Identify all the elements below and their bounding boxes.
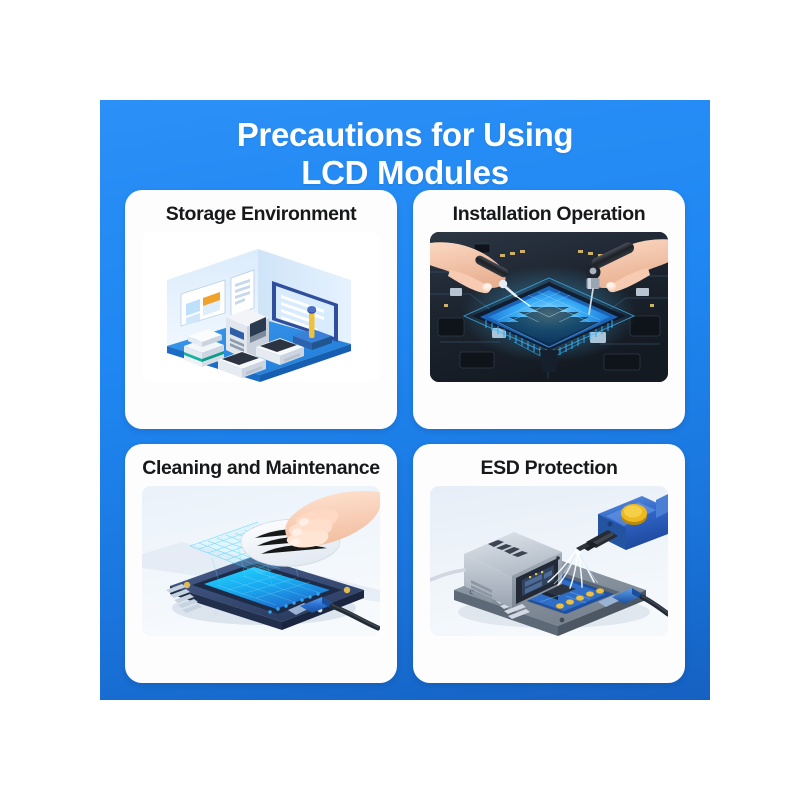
card-title-cleaning-and-maintenance: Cleaning and Maintenance [142,457,380,480]
blue-panel: Precautions for Using LCD Modules Storag… [100,100,710,700]
card-title-esd-protection: ESD Protection [480,457,617,480]
card-media-installation-operation [430,232,668,382]
hand-wiping-display-icon [142,486,380,636]
card-cleaning-and-maintenance[interactable]: Cleaning and Maintenance [125,444,397,683]
card-grid: Storage Environment [125,190,685,683]
title-line-1: Precautions for Using [237,116,574,153]
card-media-esd-protection [430,486,668,636]
hands-installing-chip-icon [430,232,668,382]
card-media-storage-environment [142,232,380,382]
page-title: Precautions for Using LCD Modules [100,116,710,191]
card-installation-operation[interactable]: Installation Operation [413,190,685,429]
card-esd-protection[interactable]: ESD Protection [413,444,685,683]
card-title-installation-operation: Installation Operation [453,203,646,226]
card-title-storage-environment: Storage Environment [166,203,357,226]
card-media-cleaning-and-maintenance [142,486,380,636]
ionizing-air-gun-icon [430,486,668,636]
title-line-2: LCD Modules [100,154,710,192]
isometric-storage-room-icon [142,232,380,382]
poster-canvas: Precautions for Using LCD Modules Storag… [0,0,800,800]
card-storage-environment[interactable]: Storage Environment [125,190,397,429]
